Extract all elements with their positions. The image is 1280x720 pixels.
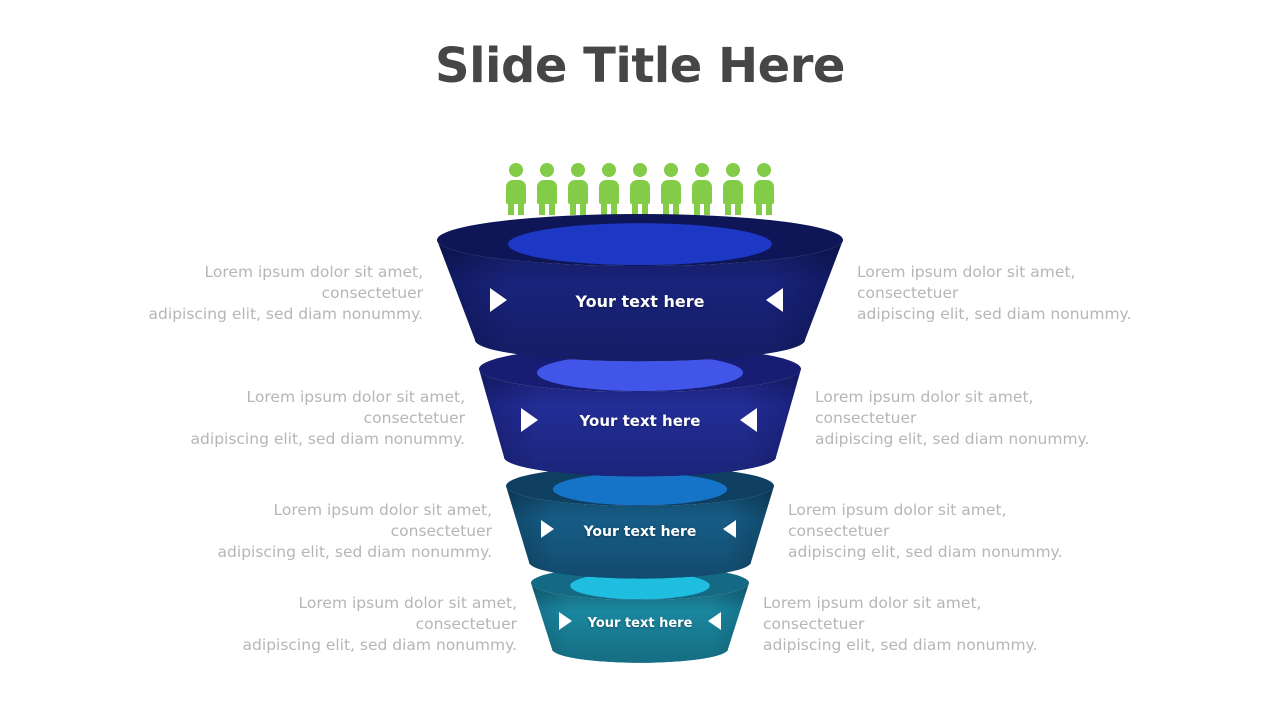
- person-icon: [660, 163, 682, 215]
- person-icon: [722, 163, 744, 215]
- caption-left-4: Lorem ipsum dolor sit amet, consectetuer…: [207, 593, 517, 656]
- triangle-right-icon: [521, 408, 538, 432]
- person-icon: [536, 163, 558, 215]
- slide-canvas: Slide Title Here Your text hereLorem ips…: [0, 0, 1280, 720]
- triangle-left-icon: [766, 288, 783, 312]
- caption-left-2: Lorem ipsum dolor sit amet, consectetuer…: [155, 387, 465, 450]
- caption-line: adipiscing elit, sed diam nonummy.: [788, 542, 1098, 563]
- person-icon: [567, 163, 589, 215]
- triangle-right-icon: [490, 288, 507, 312]
- caption-line: Lorem ipsum dolor sit amet, consectetuer: [763, 593, 1073, 635]
- caption-right-2: Lorem ipsum dolor sit amet, consectetuer…: [815, 387, 1125, 450]
- caption-left-1: Lorem ipsum dolor sit amet, consectetuer…: [113, 262, 423, 325]
- caption-line: adipiscing elit, sed diam nonummy.: [207, 635, 517, 656]
- caption-left-3: Lorem ipsum dolor sit amet, consectetuer…: [182, 500, 492, 563]
- caption-right-3: Lorem ipsum dolor sit amet, consectetuer…: [788, 500, 1098, 563]
- funnel-level-1[interactable]: Your text here: [433, 210, 847, 378]
- triangle-left-icon: [740, 408, 757, 432]
- triangle-left-icon: [708, 612, 721, 630]
- triangle-right-icon: [559, 612, 572, 630]
- caption-line: Lorem ipsum dolor sit amet, consectetuer: [815, 387, 1125, 429]
- caption-right-4: Lorem ipsum dolor sit amet, consectetuer…: [763, 593, 1073, 656]
- triangle-right-icon: [541, 520, 554, 538]
- caption-line: adipiscing elit, sed diam nonummy.: [113, 304, 423, 325]
- caption-line: Lorem ipsum dolor sit amet, consectetuer: [113, 262, 423, 304]
- caption-line: adipiscing elit, sed diam nonummy.: [763, 635, 1073, 656]
- caption-line: Lorem ipsum dolor sit amet, consectetuer: [155, 387, 465, 429]
- triangle-left-icon: [723, 520, 736, 538]
- caption-line: adipiscing elit, sed diam nonummy.: [182, 542, 492, 563]
- caption-line: Lorem ipsum dolor sit amet, consectetuer: [788, 500, 1098, 542]
- person-icon: [598, 163, 620, 215]
- person-icon: [691, 163, 713, 215]
- caption-line: Lorem ipsum dolor sit amet, consectetuer: [182, 500, 492, 542]
- caption-line: adipiscing elit, sed diam nonummy.: [815, 429, 1125, 450]
- funnel-inner-ellipse-1: [508, 223, 772, 265]
- caption-line: Lorem ipsum dolor sit amet, consectetuer: [207, 593, 517, 635]
- caption-right-1: Lorem ipsum dolor sit amet, consectetuer…: [857, 262, 1167, 325]
- caption-line: adipiscing elit, sed diam nonummy.: [155, 429, 465, 450]
- people-row: [505, 155, 775, 215]
- person-icon: [753, 163, 775, 215]
- funnel-diagram: Your text hereLorem ipsum dolor sit amet…: [0, 0, 1280, 720]
- person-icon: [505, 163, 527, 215]
- caption-line: adipiscing elit, sed diam nonummy.: [857, 304, 1167, 325]
- caption-line: Lorem ipsum dolor sit amet, consectetuer: [857, 262, 1167, 304]
- person-icon: [629, 163, 651, 215]
